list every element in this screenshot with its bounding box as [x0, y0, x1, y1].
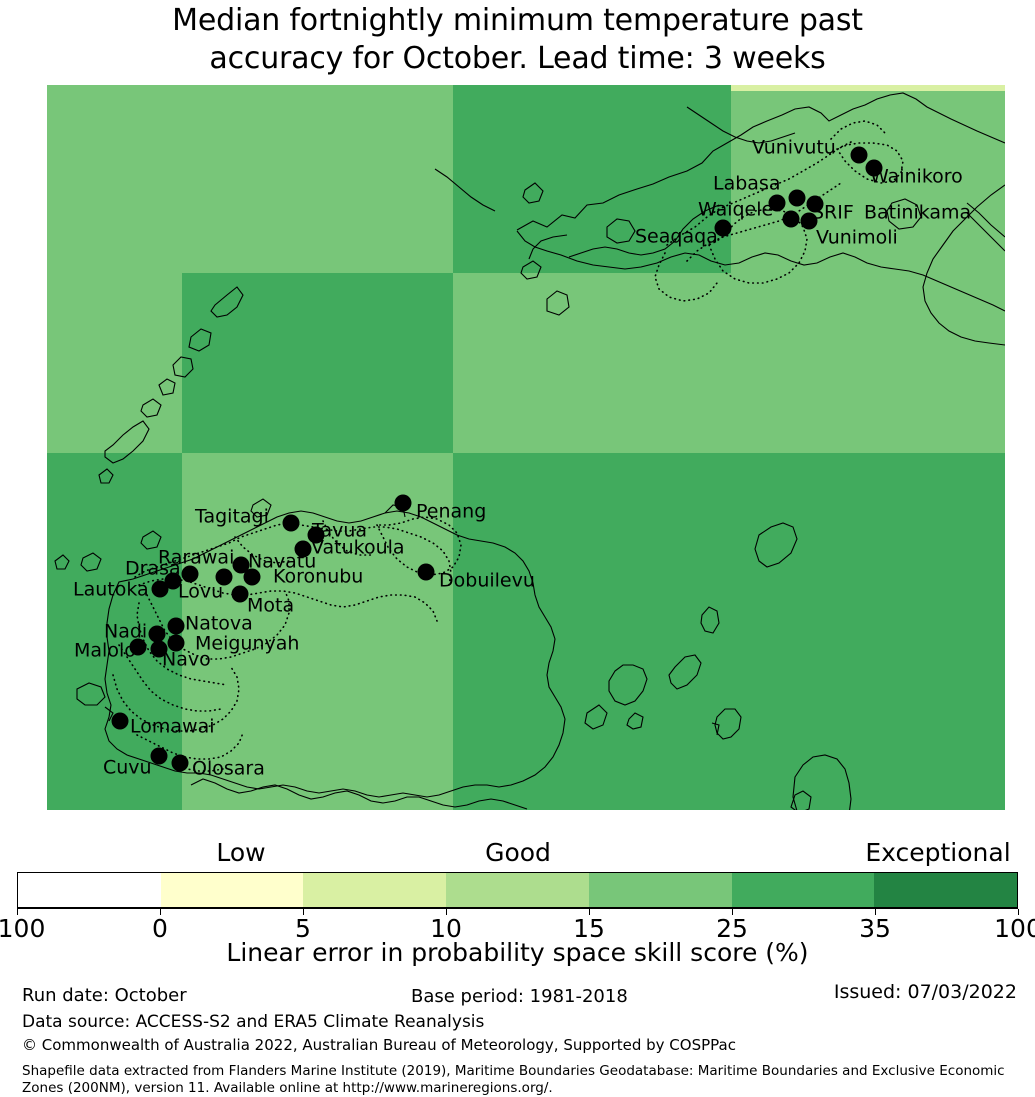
station-marker[interactable]: [151, 641, 168, 658]
station-label: Labasa: [713, 173, 780, 195]
station-marker[interactable]: [715, 220, 732, 237]
station-label: Natova: [185, 613, 253, 635]
station-marker[interactable]: [168, 618, 185, 635]
station-marker[interactable]: [149, 626, 166, 643]
outer-islands: [55, 169, 851, 810]
colorbar-quality-label: Good: [485, 838, 551, 867]
station-label: Penang: [416, 501, 486, 523]
colorbar-segment: [874, 873, 1017, 907]
footer-meta-row: Run date: October Base period: 1981-2018…: [0, 985, 1035, 1011]
run-date-text: Run date: October: [22, 985, 187, 1006]
colorbar-axis-title: Linear error in probability space skill …: [0, 938, 1035, 967]
colorbar-segment: [303, 873, 446, 907]
station-label: Lautoka: [73, 579, 149, 601]
station-label: Vatukoula: [311, 537, 405, 559]
station-label: Mota: [247, 595, 294, 617]
station-marker[interactable]: [866, 160, 883, 177]
station-marker[interactable]: [283, 515, 300, 532]
colorbar-segment: [161, 873, 304, 907]
station-marker[interactable]: [232, 586, 249, 603]
colorbar-quality-label: Exceptional: [865, 838, 1010, 867]
station-marker[interactable]: [112, 713, 129, 730]
station-marker[interactable]: [152, 581, 169, 598]
station-marker[interactable]: [789, 190, 806, 207]
station-marker[interactable]: [216, 569, 233, 586]
station-marker[interactable]: [395, 495, 412, 512]
station-label: Navo: [162, 649, 211, 671]
station-label: Waiqele: [698, 199, 773, 221]
station-label: Cuvu: [103, 757, 152, 779]
station-label: Batinikama: [864, 202, 971, 224]
station-marker[interactable]: [151, 748, 168, 765]
station-marker[interactable]: [244, 569, 261, 586]
station-marker[interactable]: [295, 541, 312, 558]
colorbar-quality-label: Low: [216, 838, 265, 867]
station-markers-layer: VunivutuWainikoroLabasaWaiqeleSRIFBatini…: [73, 137, 971, 780]
station-label: Lovu: [178, 581, 223, 603]
station-label: Vunivutu: [752, 137, 836, 159]
copyright-text: © Commonwealth of Australia 2022, Austra…: [22, 1036, 736, 1054]
station-marker[interactable]: [783, 211, 800, 228]
station-marker[interactable]: [172, 755, 189, 772]
data-source-text: Data source: ACCESS-S2 and ERA5 Climate …: [22, 1012, 484, 1032]
station-label: Seaqaqa: [635, 226, 718, 248]
station-label: Dobuilevu: [439, 570, 535, 592]
issued-date-text: Issued: 07/03/2022: [834, 981, 1017, 1003]
base-period-text: Base period: 1981-2018: [411, 986, 628, 1007]
station-label: Lomawai: [130, 716, 215, 738]
footer: Run date: October Base period: 1981-2018…: [0, 985, 1035, 1095]
colorbar-segment: [589, 873, 732, 907]
station-label: Olosara: [192, 758, 265, 780]
station-marker[interactable]: [769, 195, 786, 212]
station-label: Koronubu: [273, 566, 363, 588]
title-line-1: Median fortnightly minimum temperature p…: [0, 2, 1035, 40]
colorbar-segment: [18, 873, 161, 907]
colorbar-gradient: [17, 872, 1018, 908]
map-vector-layer: VunivutuWainikoroLabasaWaiqeleSRIFBatini…: [47, 85, 1005, 810]
colorbar-quality-labels: LowGoodExceptional: [0, 838, 1035, 868]
colorbar: LowGoodExceptional -1000510152535100 Lin…: [0, 838, 1035, 953]
station-marker[interactable]: [807, 196, 824, 213]
station-marker[interactable]: [418, 564, 435, 581]
station-marker[interactable]: [168, 635, 185, 652]
station-label: Vunimoli: [816, 227, 898, 249]
station-marker[interactable]: [130, 639, 147, 656]
skill-score-map[interactable]: VunivutuWainikoroLabasaWaiqeleSRIFBatini…: [47, 85, 1005, 810]
station-label: Tagitagi: [194, 506, 269, 528]
shapefile-attribution-text: Shapefile data extracted from Flanders M…: [22, 1063, 1022, 1097]
colorbar-segment: [732, 873, 875, 907]
station-marker[interactable]: [801, 213, 818, 230]
title-line-2: accuracy for October. Lead time: 3 weeks: [0, 40, 1035, 78]
chart-title: Median fortnightly minimum temperature p…: [0, 0, 1035, 78]
colorbar-segment: [446, 873, 589, 907]
station-marker[interactable]: [851, 147, 868, 164]
station-marker[interactable]: [182, 566, 199, 583]
station-marker[interactable]: [308, 527, 325, 544]
station-label: Malolo: [74, 640, 136, 662]
station-label: Wainikoro: [870, 166, 963, 188]
